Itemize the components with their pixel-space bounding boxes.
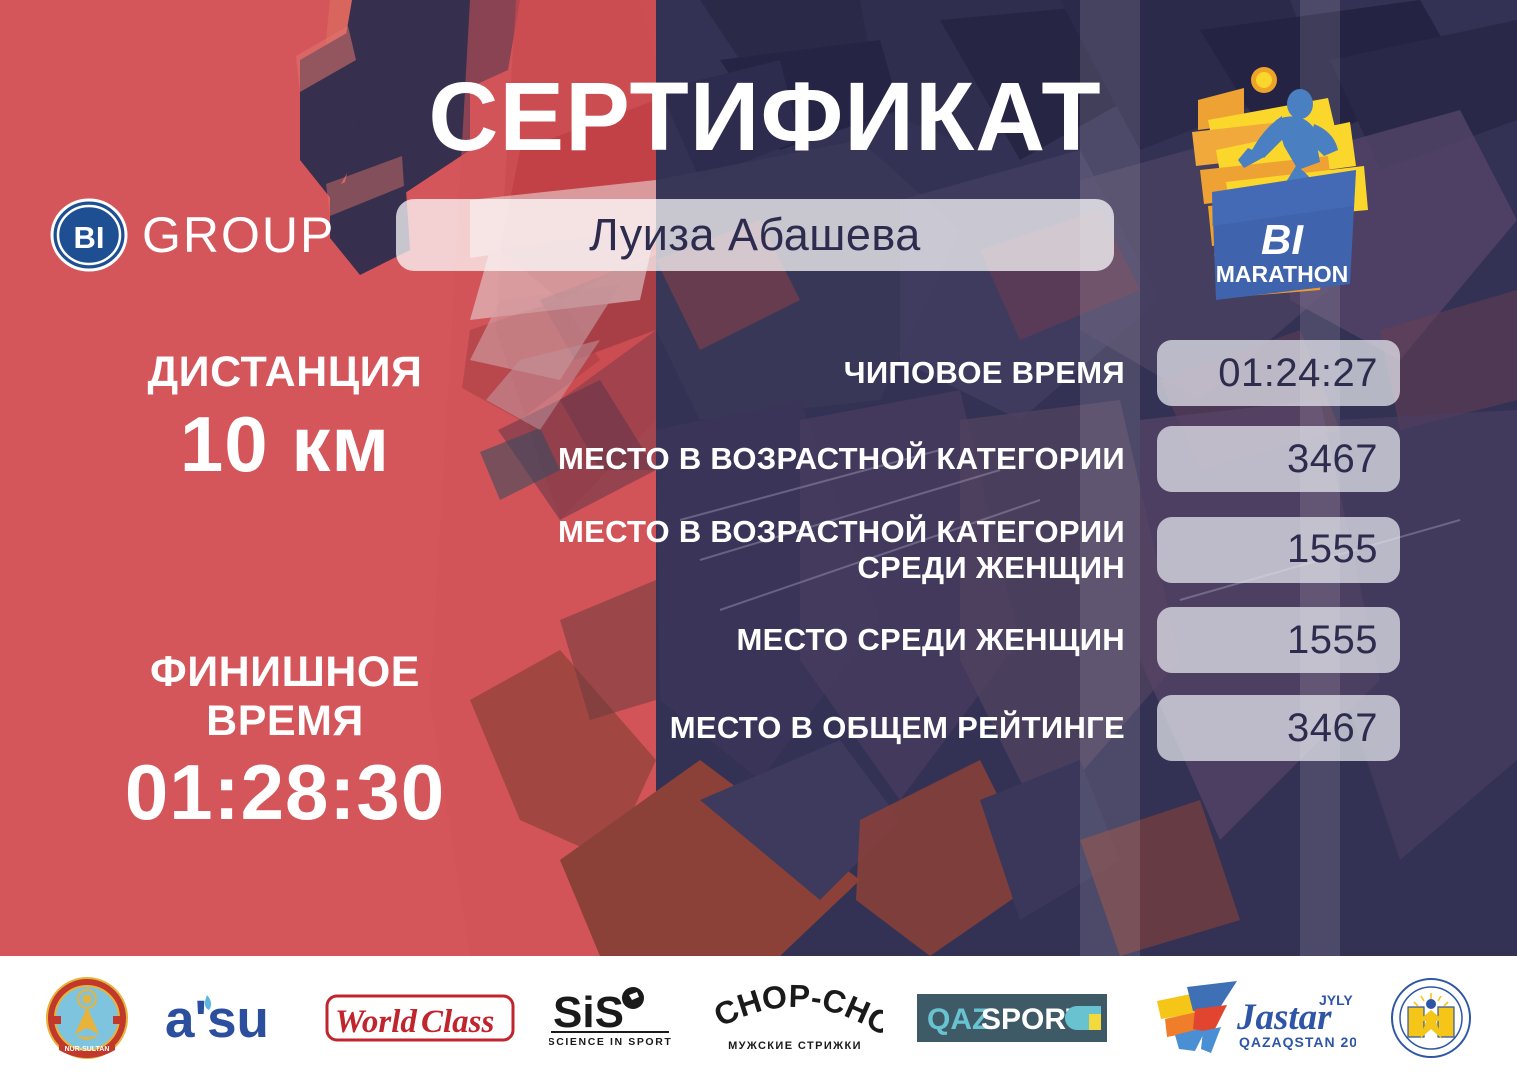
sponsor-world-class-text-b: Class — [421, 1004, 494, 1040]
stat-distance: ДИСТАНЦИЯ 10 км — [75, 348, 495, 488]
result-row: МЕСТО В ВОЗРАСТНОЙ КАТЕГОРИИ СРЕДИ ЖЕНЩИ… — [500, 514, 1400, 585]
result-row-label: МЕСТО СРЕДИ ЖЕНЩИН — [500, 622, 1157, 658]
sponsor-asu-logo: a'su — [163, 985, 291, 1051]
result-row-value: 3467 — [1157, 695, 1400, 761]
bi-marathon-line2: MARATHON — [1216, 261, 1348, 287]
sponsor-qazsport-logo: QAZ SPORT — [917, 994, 1107, 1042]
result-row-value: 1555 — [1157, 517, 1400, 583]
sponsor-sis-text: SiS — [553, 988, 624, 1037]
result-row-label: МЕСТО В ВОЗРАСТНОЙ КАТЕГОРИИ СРЕДИ ЖЕНЩИ… — [500, 514, 1157, 585]
sponsor-chop-chop-logo: CHOP-CHOP МУЖСКИЕ СТРИЖКИ — [707, 983, 883, 1053]
result-row: МЕСТО В ВОЗРАСТНОЙ КАТЕГОРИИ 3467 — [500, 426, 1400, 492]
sponsor-world-class-logo: World Class — [325, 990, 515, 1046]
result-row-label: ЧИПОВОЕ ВРЕМЯ — [500, 355, 1157, 391]
sponsor-world-class-text-a: World — [335, 1004, 417, 1040]
participant-name-field: Луиза Абашева — [396, 199, 1114, 271]
result-row: МЕСТО В ОБЩЕМ РЕЙТИНГЕ 3467 — [500, 695, 1400, 761]
sponsor-chop-chop-text: CHOP-CHOP — [707, 983, 883, 1043]
result-row-value: 01:24:27 — [1157, 340, 1400, 406]
sponsor-chop-chop-sub: МУЖСКИЕ СТРИЖКИ — [728, 1040, 862, 1052]
svg-text:BI: BI — [74, 220, 105, 255]
stat-finish-time-value: 01:28:30 — [75, 749, 495, 836]
sponsor-jastar-sup: JYLY — [1319, 992, 1353, 1008]
result-row-label: МЕСТО В ОБЩЕМ РЕЙТИНГЕ — [500, 710, 1157, 746]
sponsor-jastar-jyly-logo: Jastar JYLY QAZAQSTAN 2019 — [1141, 979, 1356, 1057]
result-row-value: 3467 — [1157, 426, 1400, 492]
result-row-value: 1555 — [1157, 607, 1400, 673]
bi-marathon-line1: BI — [1261, 216, 1304, 263]
bi-marathon-logo: BI MARATHON — [1178, 58, 1378, 308]
sponsor-ministry-emblem — [1390, 977, 1472, 1059]
stat-distance-value: 10 км — [75, 401, 495, 488]
svg-text:CHOP-CHOP: CHOP-CHOP — [707, 983, 883, 1043]
page-title: СЕРТИФИКАТ — [395, 62, 1135, 172]
sponsor-strip: NUR-SULTAN a'su World Class SiS — [0, 956, 1517, 1080]
bi-badge-icon: BI — [50, 196, 128, 274]
sponsor-asu-text: a'su — [165, 990, 269, 1049]
result-row: МЕСТО СРЕДИ ЖЕНЩИН 1555 — [500, 607, 1400, 673]
sponsor-sis-logo: SiS SCIENCE IN SPORT — [549, 985, 673, 1051]
result-rows: ЧИПОВОЕ ВРЕМЯ 01:24:27 МЕСТО В ВОЗРАСТНО… — [500, 340, 1400, 779]
certificate: СЕРТИФИКАТ Луиза Абашева BI GROUP — [0, 0, 1517, 1080]
bi-group-wordmark: GROUP — [142, 206, 335, 264]
sponsor-nur-sultan-emblem: NUR-SULTAN — [45, 976, 129, 1060]
sponsor-jastar-sub: QAZAQSTAN 2019 — [1239, 1034, 1356, 1050]
result-row-label: МЕСТО В ВОЗРАСТНОЙ КАТЕГОРИИ — [500, 441, 1157, 477]
bi-group-logo: BI GROUP — [50, 196, 335, 274]
stat-finish-time: ФИНИШНОЕ ВРЕМЯ 01:28:30 — [75, 648, 495, 837]
participant-name: Луиза Абашева — [589, 209, 921, 261]
result-row: ЧИПОВОЕ ВРЕМЯ 01:24:27 — [500, 340, 1400, 406]
sponsor-jastar-text: Jastar — [1236, 997, 1332, 1038]
stat-finish-time-label: ФИНИШНОЕ ВРЕМЯ — [75, 648, 495, 745]
sponsor-sis-sub: SCIENCE IN SPORT — [549, 1036, 672, 1048]
sponsor-nur-sultan-text: NUR-SULTAN — [65, 1046, 110, 1053]
stat-distance-label: ДИСТАНЦИЯ — [75, 348, 495, 397]
